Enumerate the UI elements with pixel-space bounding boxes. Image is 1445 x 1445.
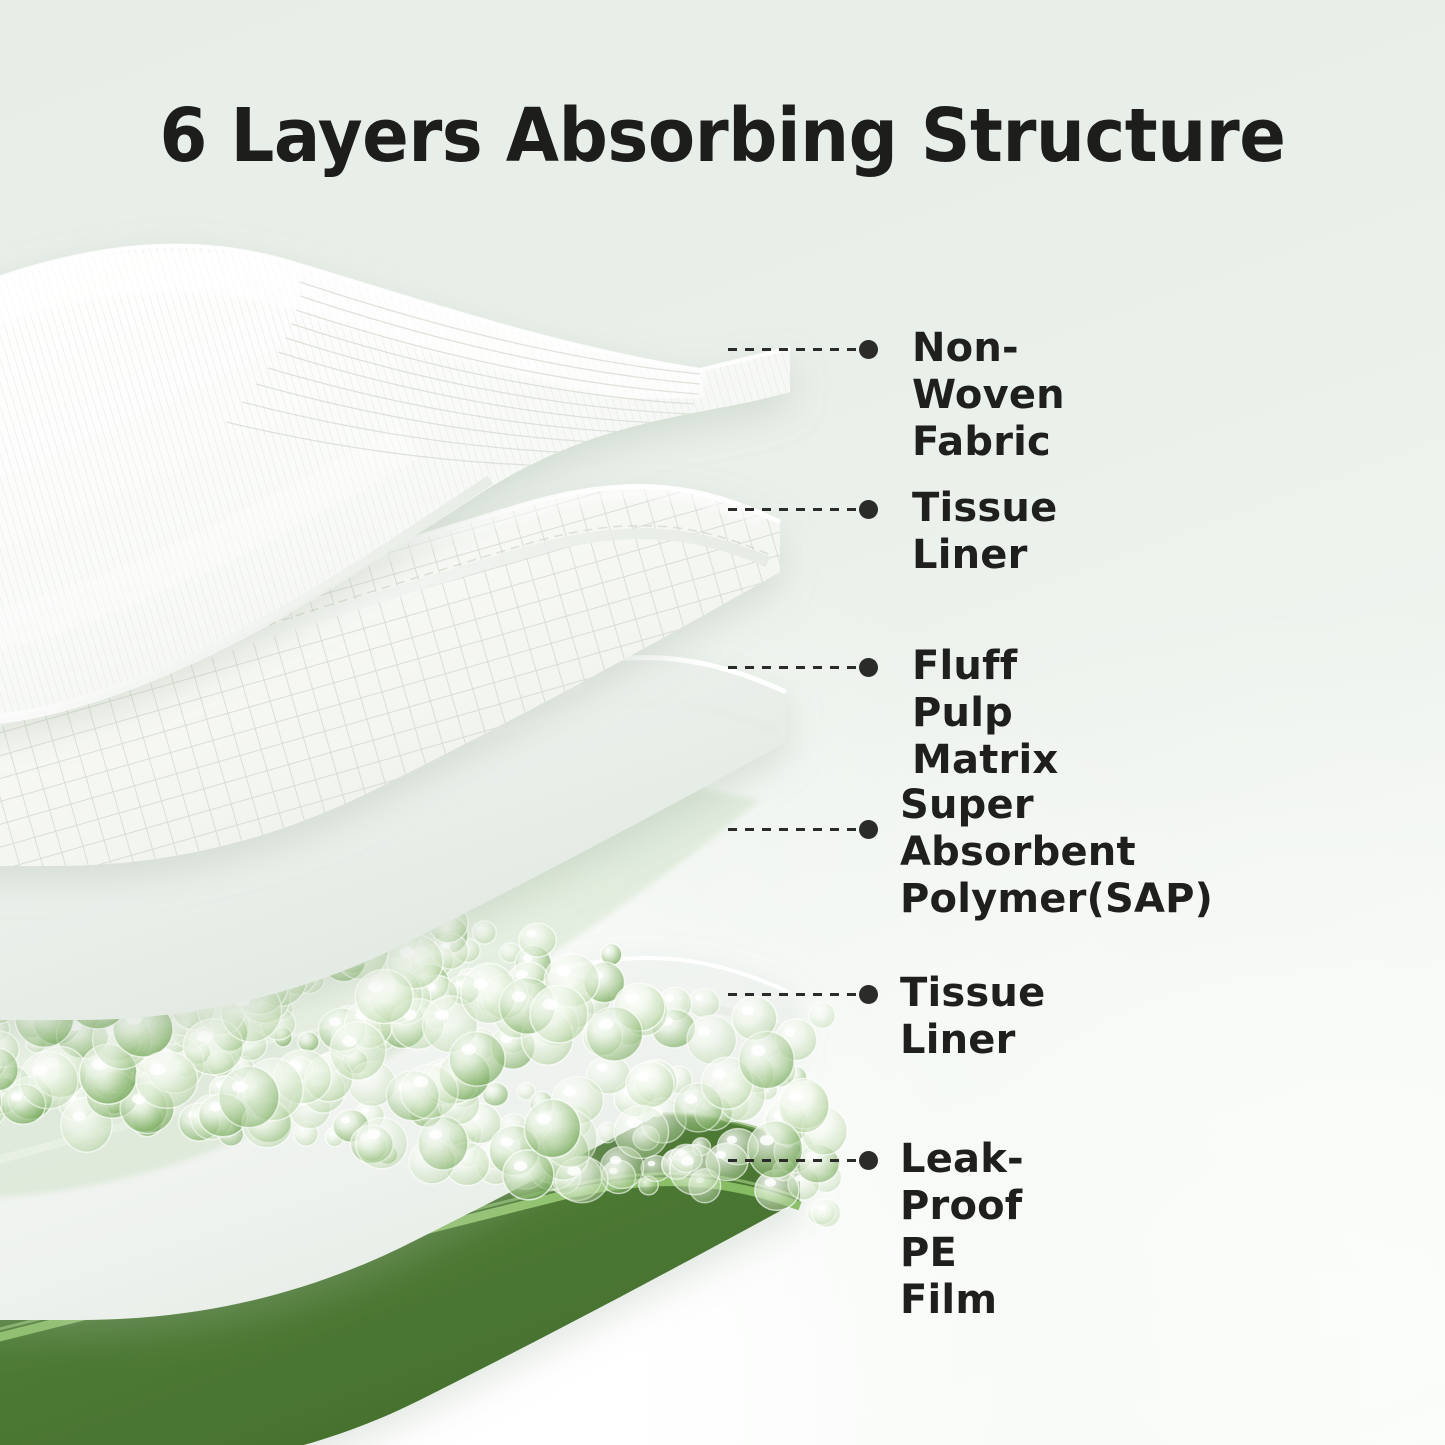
layer-stack-illustration: [0, 0, 1445, 1445]
leader-line-tissue-liner-top: [728, 508, 864, 511]
leader-line-non-woven-fabric: [728, 348, 864, 351]
callout-label-super-absorbent-polymer: Super Absorbent Polymer(SAP): [900, 782, 1213, 923]
leader-dot-fluff-pulp-matrix: [859, 658, 878, 677]
leader-dot-tissue-liner-top: [859, 500, 878, 519]
leader-dot-tissue-liner-bottom: [859, 985, 878, 1004]
callout-label-non-woven-fabric: Non-Woven Fabric: [912, 325, 1065, 466]
callout-label-tissue-liner-top: Tissue Liner: [912, 485, 1057, 579]
callout-label-tissue-liner-bottom: Tissue Liner: [900, 970, 1045, 1064]
infographic-canvas: 6 Layers Absorbing Structure Non-Woven F…: [0, 0, 1445, 1445]
leader-dot-super-absorbent-polymer: [859, 820, 878, 839]
callout-label-fluff-pulp-matrix: Fluff Pulp Matrix: [912, 643, 1058, 784]
leader-dot-leak-proof-pe-film: [859, 1151, 878, 1170]
leader-line-tissue-liner-bottom: [728, 993, 864, 996]
callout-label-leak-proof-pe-film: Leak-Proof PE Film: [900, 1136, 1024, 1324]
leader-dot-non-woven-fabric: [859, 340, 878, 359]
leader-line-fluff-pulp-matrix: [728, 666, 864, 669]
page-title: 6 Layers Absorbing Structure: [51, 96, 1395, 176]
leader-line-leak-proof-pe-film: [728, 1159, 864, 1162]
leader-line-super-absorbent-polymer: [728, 828, 864, 831]
